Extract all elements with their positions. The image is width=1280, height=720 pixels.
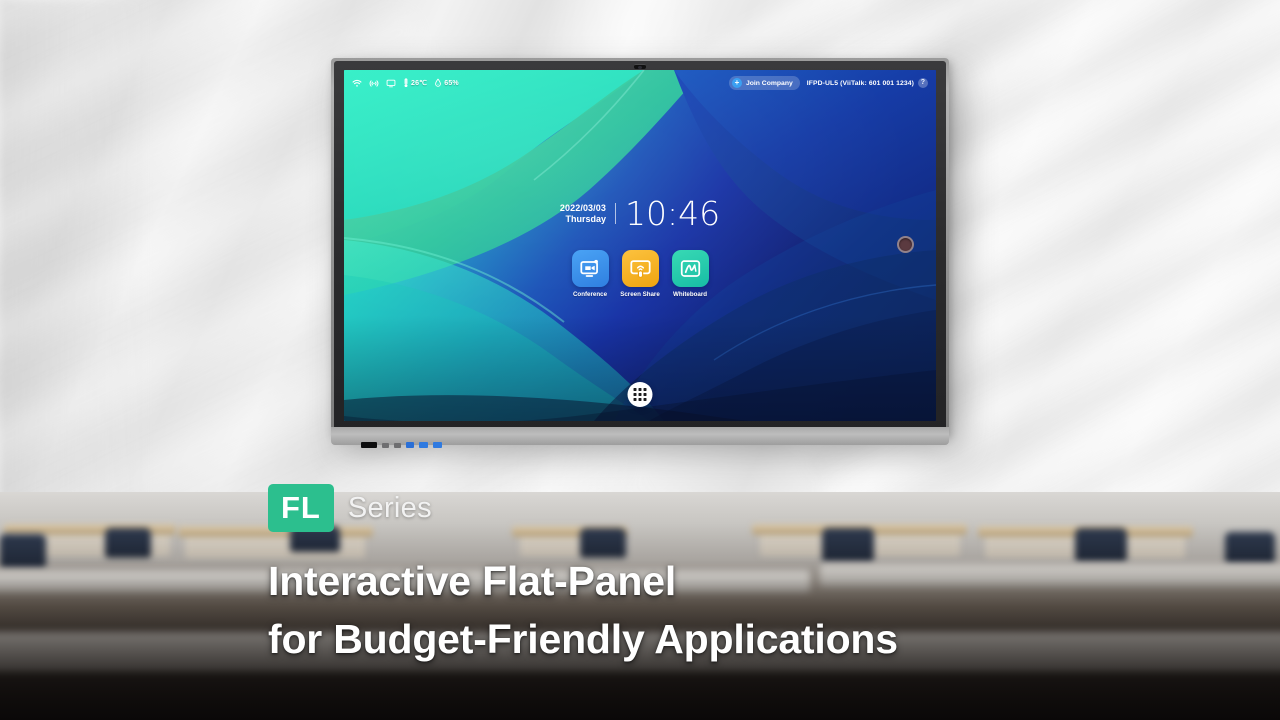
thermometer-icon xyxy=(403,78,409,88)
humidity-metric: 65% xyxy=(434,78,459,88)
status-bar-left: 26℃ 65% xyxy=(352,78,459,88)
port-panel xyxy=(361,436,442,454)
screen-share-icon xyxy=(629,258,652,279)
device-info[interactable]: IFPD-UL5 (ViiTalk: 601 001 1234) ? xyxy=(807,78,928,88)
clock-widget: 2022/03/03 Thursday 10:46 xyxy=(344,197,936,230)
video-conference-icon xyxy=(579,258,602,279)
display-bezel: 26℃ 65% xyxy=(334,61,946,433)
scene-background: 26℃ 65% xyxy=(0,0,1280,720)
temperature-metric: 26℃ xyxy=(403,78,427,88)
app-screen-share[interactable]: Screen Share xyxy=(622,250,659,298)
port-generic xyxy=(394,443,401,448)
device-info-label: IFPD-UL5 (ViiTalk: 601 001 1234) xyxy=(807,80,914,87)
interactive-flat-panel: 26℃ 65% xyxy=(331,58,949,436)
marketing-copy: FL Series Interactive Flat-Panel for Bud… xyxy=(268,484,1088,668)
wallpaper xyxy=(344,70,936,421)
help-icon[interactable]: ? xyxy=(918,78,928,88)
humidity-drop-icon xyxy=(434,78,442,88)
port-generic xyxy=(382,443,389,448)
wifi-icon[interactable] xyxy=(352,79,362,88)
camera-icon xyxy=(634,64,646,69)
headline-line-1: Interactive Flat-Panel xyxy=(268,552,1088,610)
usb-port xyxy=(433,442,442,448)
app-whiteboard-label: Whiteboard xyxy=(673,291,707,298)
sensor-indicator xyxy=(897,236,914,253)
headline: Interactive Flat-Panel for Budget-Friend… xyxy=(268,552,1088,668)
app-shortcuts: Conference xyxy=(344,250,936,298)
grid-dots-icon xyxy=(634,388,646,400)
date-block: 2022/03/03 Thursday xyxy=(560,203,616,224)
app-screen-share-tile[interactable] xyxy=(622,250,659,287)
whiteboard-pen-icon xyxy=(679,258,702,279)
humidity-value: 65% xyxy=(444,80,459,87)
app-drawer-button[interactable] xyxy=(628,382,653,407)
time-value: 10:46 xyxy=(625,197,720,230)
status-bar: 26℃ 65% xyxy=(344,70,936,96)
app-conference-label: Conference xyxy=(573,291,607,298)
usb-port xyxy=(406,442,414,448)
wallpaper-waves xyxy=(344,70,936,421)
fl-series-badge: FL xyxy=(268,484,334,532)
app-conference-tile[interactable] xyxy=(572,250,609,287)
status-bar-right: + Join Company IFPD-UL5 (ViiTalk: 601 00… xyxy=(729,76,928,90)
display-icon[interactable] xyxy=(386,79,396,88)
date-value: 2022/03/03 xyxy=(560,203,606,213)
usb-port xyxy=(419,442,428,448)
app-whiteboard-tile[interactable] xyxy=(672,250,709,287)
hotspot-icon[interactable] xyxy=(369,79,379,88)
join-company-button[interactable]: + Join Company xyxy=(729,76,800,90)
app-conference[interactable]: Conference xyxy=(572,250,609,298)
display-screen[interactable]: 26℃ 65% xyxy=(344,70,936,421)
ir-receiver xyxy=(361,442,377,448)
app-whiteboard[interactable]: Whiteboard xyxy=(672,250,709,298)
temperature-value: 26℃ xyxy=(411,79,427,87)
series-row: FL Series xyxy=(268,484,1088,532)
join-company-label: Join Company xyxy=(746,80,793,87)
app-screen-share-label: Screen Share xyxy=(620,291,660,298)
headline-line-2: for Budget-Friendly Applications xyxy=(268,610,1088,668)
series-word: Series xyxy=(348,492,432,525)
bottom-chin xyxy=(331,427,949,445)
weekday-value: Thursday xyxy=(560,214,606,224)
plus-icon: + xyxy=(732,78,742,88)
